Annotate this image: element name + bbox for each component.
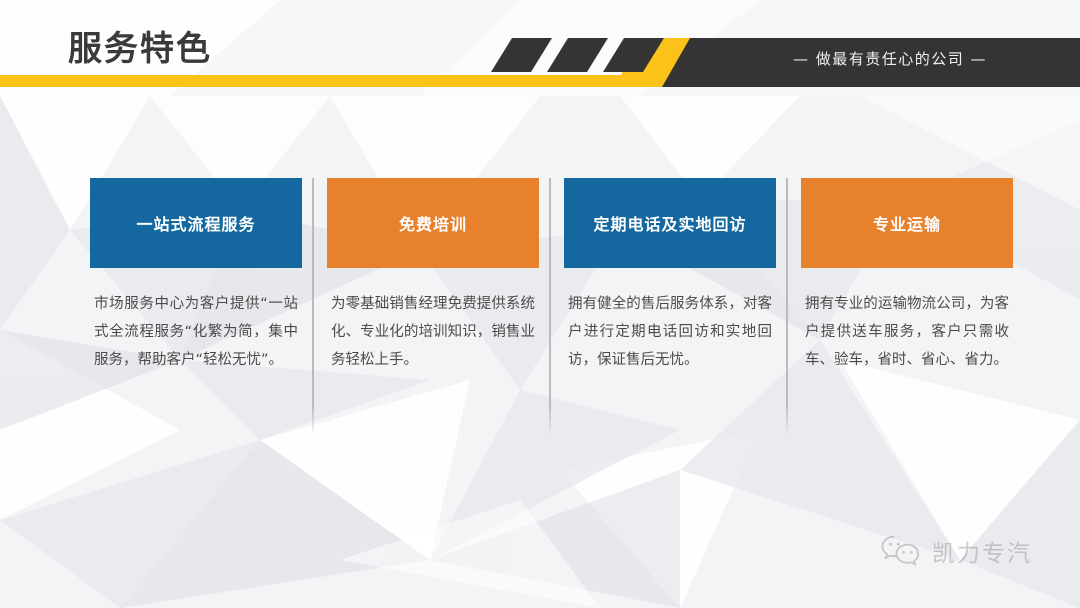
wechat-icon	[880, 534, 922, 568]
feature-card-3[interactable]: 定期电话及实地回访 拥有健全的售后服务体系，对客户进行定期电话回访和实地回访，保…	[564, 178, 776, 374]
feature-cards: 一站式流程服务 市场服务中心为客户提供“一站式全流程服务“化繁为简，集中服务，帮…	[0, 178, 1080, 448]
card-divider	[549, 178, 551, 436]
feature-card-body: 拥有专业的运输物流公司，为客户提供送车服务，客户只需收车、验车，省时、省心、省力…	[801, 290, 1013, 374]
card-divider	[786, 178, 788, 436]
feature-card-title: 定期电话及实地回访	[564, 178, 776, 268]
feature-card-title: 一站式流程服务	[90, 178, 302, 268]
page-title: 服务特色	[68, 26, 212, 72]
footer-watermark: 凯力专汽	[880, 534, 1032, 568]
feature-card-body: 为零基础销售经理免费提供系统化、专业化的培训知识，销售业务轻松上手。	[327, 290, 539, 374]
feature-card-body: 拥有健全的售后服务体系，对客户进行定期电话回访和实地回访，保证售后无忧。	[564, 290, 776, 374]
feature-card-4[interactable]: 专业运输 拥有专业的运输物流公司，为客户提供送车服务，客户只需收车、验车，省时、…	[801, 178, 1013, 374]
feature-card-title: 免费培训	[327, 178, 539, 268]
feature-card-body: 市场服务中心为客户提供“一站式全流程服务“化繁为简，集中服务，帮助客户“轻松无忧…	[90, 290, 302, 374]
slide-header: 服务特色 — 做最有责任心的公司 —	[0, 0, 1080, 96]
feature-card-1[interactable]: 一站式流程服务 市场服务中心为客户提供“一站式全流程服务“化繁为简，集中服务，帮…	[90, 178, 302, 374]
feature-card-2[interactable]: 免费培训 为零基础销售经理免费提供系统化、专业化的培训知识，销售业务轻松上手。	[327, 178, 539, 374]
header-slogan: — 做最有责任心的公司 —	[700, 48, 1080, 69]
card-divider	[312, 178, 314, 436]
watermark-text: 凯力专汽	[932, 534, 1032, 568]
feature-card-title: 专业运输	[801, 178, 1013, 268]
slide-root: 服务特色 — 做最有责任心的公司 — 一站式流程服务 市场服务中心为客户提供“一…	[0, 0, 1080, 608]
